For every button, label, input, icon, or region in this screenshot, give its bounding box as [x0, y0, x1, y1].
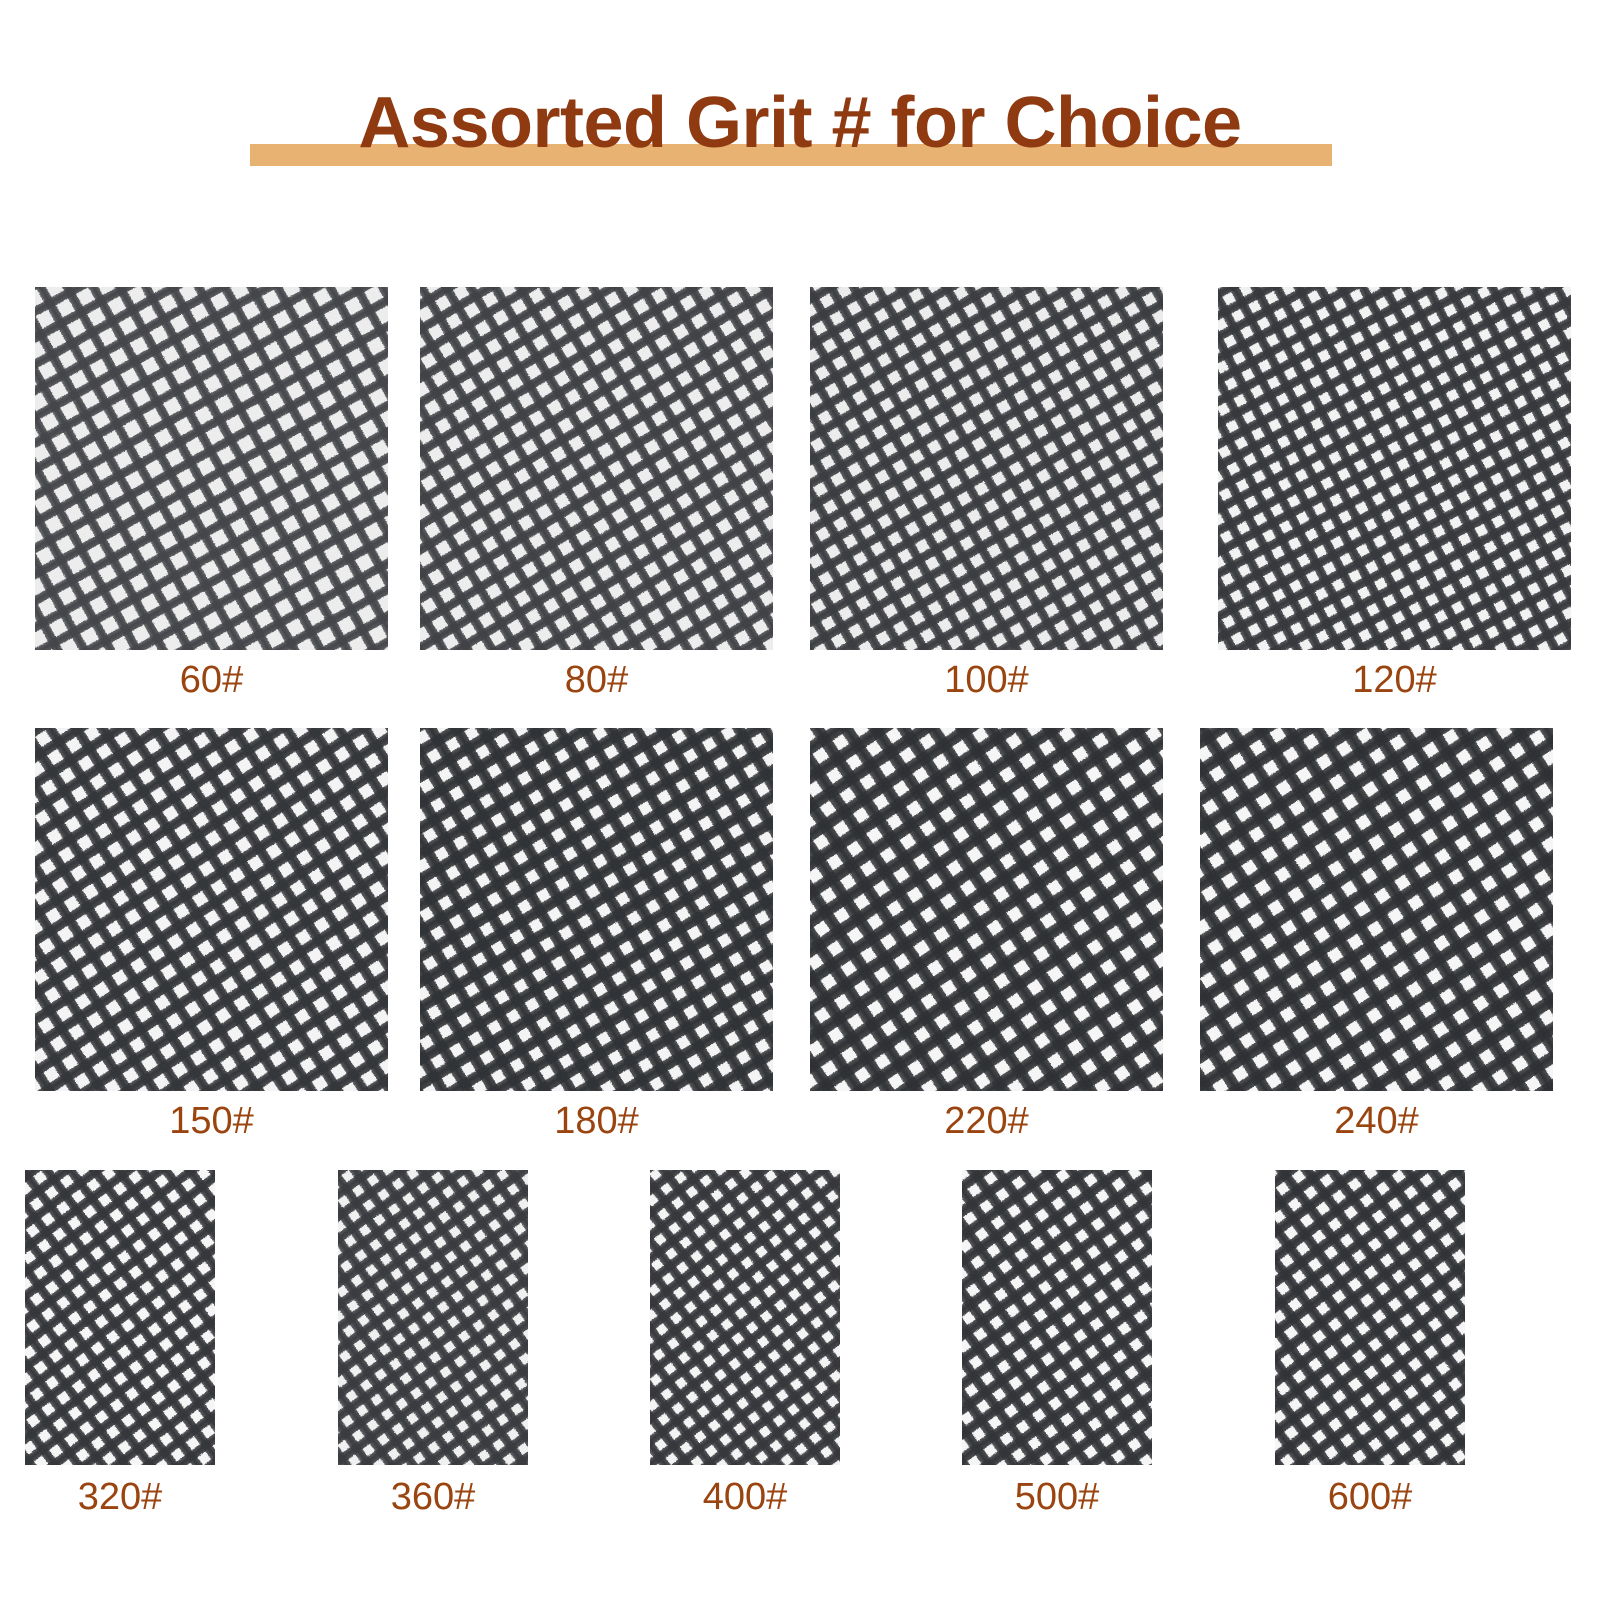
grit-swatch-400[interactable]: 400#	[650, 1170, 840, 1465]
mesh-texture-220	[810, 728, 1163, 1091]
mesh-texture-360	[338, 1170, 528, 1465]
grit-label-320: 320#	[25, 1476, 215, 1519]
grit-swatch-240[interactable]: 240#	[1200, 728, 1553, 1091]
mesh-texture-180	[420, 728, 773, 1091]
mesh-texture-60	[35, 287, 388, 650]
mesh-texture-150	[35, 728, 388, 1091]
grit-swatch-600[interactable]: 600#	[1275, 1170, 1465, 1465]
grit-label-120: 120#	[1218, 659, 1571, 702]
title-block: Assorted Grit # for Choice	[0, 78, 1600, 188]
grit-swatch-120[interactable]: 120#	[1218, 287, 1571, 650]
mesh-texture-100	[810, 287, 1163, 650]
grit-swatch-360[interactable]: 360#	[338, 1170, 528, 1465]
grit-swatch-150[interactable]: 150#	[35, 728, 388, 1091]
grit-label-500: 500#	[962, 1476, 1152, 1519]
mesh-texture-320	[25, 1170, 215, 1465]
grit-swatch-180[interactable]: 180#	[420, 728, 773, 1091]
grit-label-100: 100#	[810, 659, 1163, 702]
grit-label-600: 600#	[1275, 1476, 1465, 1519]
mesh-texture-500	[962, 1170, 1152, 1465]
grit-label-80: 80#	[420, 659, 773, 702]
mesh-texture-80	[420, 287, 773, 650]
grit-label-220: 220#	[810, 1100, 1163, 1143]
page-title: Assorted Grit # for Choice	[0, 78, 1600, 168]
grit-swatch-320[interactable]: 320#	[25, 1170, 215, 1465]
grit-swatch-500[interactable]: 500#	[962, 1170, 1152, 1465]
grit-swatch-100[interactable]: 100#	[810, 287, 1163, 650]
mesh-texture-600	[1275, 1170, 1465, 1465]
mesh-texture-120	[1218, 287, 1571, 650]
grit-label-180: 180#	[420, 1100, 773, 1143]
grit-label-240: 240#	[1200, 1100, 1553, 1143]
grit-label-360: 360#	[338, 1476, 528, 1519]
grit-swatch-60[interactable]: 60#	[35, 287, 388, 650]
grit-swatch-220[interactable]: 220#	[810, 728, 1163, 1091]
mesh-texture-400	[650, 1170, 840, 1465]
grit-label-60: 60#	[35, 659, 388, 702]
grit-label-150: 150#	[35, 1100, 388, 1143]
mesh-texture-240	[1200, 728, 1553, 1091]
grit-label-400: 400#	[650, 1476, 840, 1519]
grit-swatch-80[interactable]: 80#	[420, 287, 773, 650]
